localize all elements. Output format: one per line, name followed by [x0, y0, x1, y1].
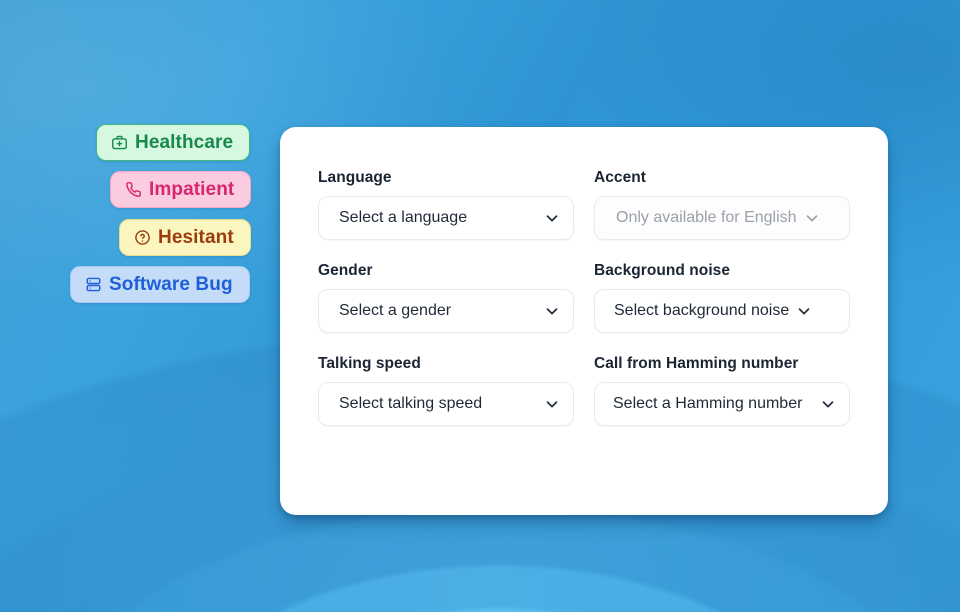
- pill-label: Healthcare: [135, 132, 233, 154]
- chevron-down-icon: [803, 209, 821, 227]
- select-call-from-hamming-number[interactable]: Select a Hamming number: [594, 382, 850, 426]
- pill-software-bug[interactable]: Software Bug: [70, 266, 250, 303]
- field-label-gender: Gender: [318, 262, 574, 280]
- field-gender: Gender Select a gender: [318, 262, 574, 333]
- select-gender[interactable]: Select a gender: [318, 289, 574, 333]
- select-accent: Only available for English: [594, 196, 850, 240]
- select-gender-value: Select a gender: [339, 302, 537, 320]
- first-aid-kit-icon: [111, 134, 128, 151]
- server-stack-icon: [85, 276, 102, 293]
- pill-label: Impatient: [149, 179, 234, 201]
- phone-icon: [125, 181, 142, 198]
- settings-form-grid: Language Select a language Accent Only a…: [318, 169, 850, 426]
- pill-healthcare[interactable]: Healthcare: [96, 124, 250, 161]
- field-label-call-from-hamming-number: Call from Hamming number: [594, 355, 850, 373]
- chevron-down-icon: [543, 209, 561, 227]
- select-background-noise[interactable]: Select background noise: [594, 289, 850, 333]
- field-label-background-noise: Background noise: [594, 262, 850, 280]
- pill-label: Software Bug: [109, 274, 233, 296]
- chevron-down-icon: [543, 302, 561, 320]
- chevron-down-icon: [543, 395, 561, 413]
- select-call-from-hamming-number-value: Select a Hamming number: [613, 395, 820, 413]
- field-label-talking-speed: Talking speed: [318, 355, 574, 373]
- field-accent: Accent Only available for English: [594, 169, 850, 240]
- select-talking-speed-value: Select talking speed: [339, 395, 537, 413]
- field-label-language: Language: [318, 169, 574, 187]
- pill-label: Hesitant: [158, 227, 234, 249]
- chevron-down-icon: [819, 395, 837, 413]
- pill-impatient[interactable]: Impatient: [110, 171, 251, 208]
- question-circle-icon: [134, 229, 151, 246]
- settings-card: Language Select a language Accent Only a…: [280, 127, 888, 515]
- select-background-noise-value: Select background noise: [614, 302, 789, 320]
- field-background-noise: Background noise Select background noise: [594, 262, 850, 333]
- pill-hesitant[interactable]: Hesitant: [119, 219, 251, 256]
- select-talking-speed[interactable]: Select talking speed: [318, 382, 574, 426]
- select-language-value: Select a language: [339, 209, 537, 227]
- select-language[interactable]: Select a language: [318, 196, 574, 240]
- field-language: Language Select a language: [318, 169, 574, 240]
- field-label-accent: Accent: [594, 169, 850, 187]
- field-talking-speed: Talking speed Select talking speed: [318, 355, 574, 426]
- field-call-from-hamming-number: Call from Hamming number Select a Hammin…: [594, 355, 850, 426]
- select-accent-value: Only available for English: [616, 209, 797, 227]
- chevron-down-icon: [795, 302, 813, 320]
